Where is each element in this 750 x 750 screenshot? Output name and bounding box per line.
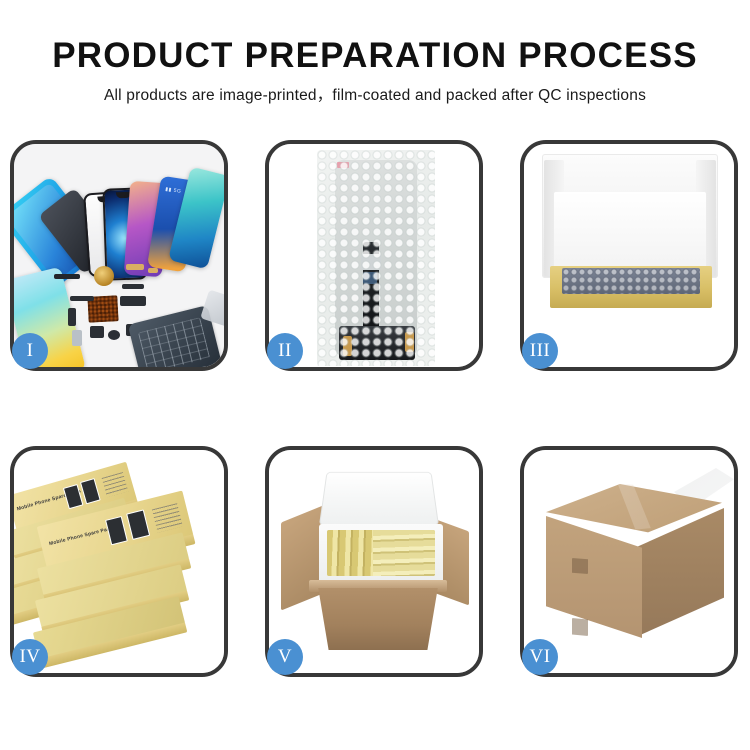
product-preparation-infographic: PRODUCT PREPARATION PROCESS All products… [0, 0, 750, 750]
styrofoam-liner [319, 524, 443, 584]
part-flex-cable-b [68, 308, 76, 326]
step-badge-3: III [522, 333, 558, 369]
bubble-texture [317, 150, 435, 366]
carton-body [313, 588, 443, 650]
step-panel-5: V [265, 446, 483, 677]
part-wireless-coil [94, 266, 114, 286]
bubble-wrapped-contents [562, 268, 700, 294]
step-badge-5: V [267, 639, 303, 675]
step-6-image [524, 450, 734, 673]
carton-front-face [546, 516, 642, 638]
header: PRODUCT PREPARATION PROCESS All products… [0, 36, 750, 106]
step-badge-1: I [12, 333, 48, 369]
part-button-flex [122, 284, 144, 289]
part-sim-tray [72, 330, 82, 346]
part-vibrator [90, 326, 104, 338]
step-panel-6: VI [520, 446, 738, 677]
step-panel-1: ▮▮ 5G I [10, 140, 228, 371]
step-badge-4: IV [12, 639, 48, 675]
page-subtitle: All products are image-printed，film-coat… [0, 86, 750, 106]
bubble-wrap-bag [317, 150, 435, 366]
part-speaker [108, 330, 120, 340]
step-panel-3: III [520, 140, 738, 371]
styrofoam-lid [319, 472, 439, 526]
step-panel-2: II [265, 140, 483, 371]
part-camera-flex [120, 296, 146, 306]
step-badge-2: II [267, 333, 303, 369]
step-4-image: Mobile Phone Spare Parts Mobile [14, 450, 224, 673]
white-foam-sheet [554, 192, 706, 270]
page-title: PRODUCT PREPARATION PROCESS [0, 36, 750, 76]
step-3-image [524, 144, 734, 367]
step-badge-6: VI [522, 639, 558, 675]
packed-yellow-boxes [327, 530, 435, 576]
part-gold-connector [126, 264, 144, 270]
step-1-image: ▮▮ 5G [14, 144, 224, 367]
kraft-tray-box [550, 266, 712, 308]
step-2-image [269, 144, 479, 367]
step-panel-4: Mobile Phone Spare Parts Mobile [10, 446, 228, 677]
part-gold-connector-2 [148, 268, 158, 273]
carton-corner-seal-top [572, 558, 588, 574]
process-steps-grid: ▮▮ 5G I [10, 140, 740, 677]
part-flex-cable-a [70, 296, 94, 301]
part-speaker-bar [54, 274, 80, 279]
step-5-image [269, 450, 479, 673]
carton-corner-seal-bottom [572, 618, 588, 636]
